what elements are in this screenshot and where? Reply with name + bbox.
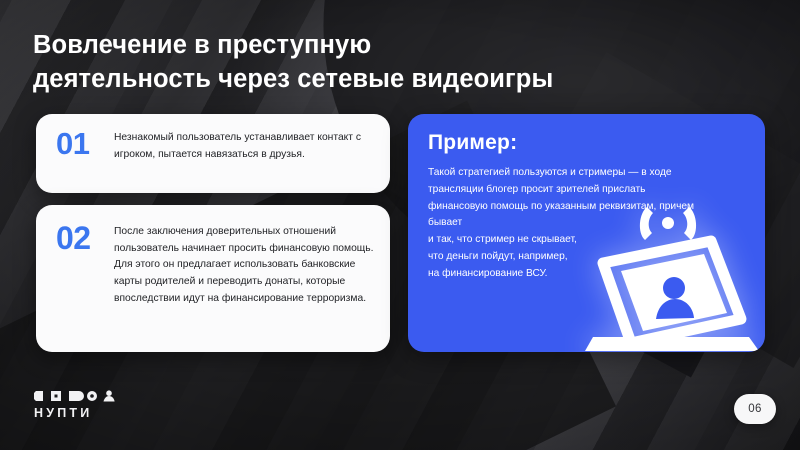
step-card-02: 02 После заключения доверительных отноше… — [36, 205, 390, 352]
example-panel: Пример: Такой стратегией пользуются и ст… — [408, 114, 765, 352]
page-title: Вовлечение в преступную деятельность чер… — [33, 28, 693, 96]
example-panel-text: Такой стратегией пользуются и стримеры —… — [428, 165, 696, 283]
example-panel-title: Пример: — [428, 131, 745, 155]
laptop-base — [585, 337, 759, 351]
step-text: Незнакомый пользователь устанавливает ко… — [114, 128, 374, 163]
page-number-badge: 06 — [734, 394, 776, 424]
step-text: После заключения доверительных отношений… — [114, 222, 374, 307]
logo-wordmark: НУПТИ — [34, 406, 126, 420]
brand-logo: НУПТИ — [34, 390, 126, 420]
step-number: 02 — [56, 222, 114, 256]
logo-glyph-row — [34, 390, 126, 403]
step-number: 01 — [56, 128, 114, 161]
slide: Вовлечение в преступную деятельность чер… — [0, 0, 800, 450]
step-card-01: 01 Незнакомый пользователь устанавливает… — [36, 114, 390, 193]
